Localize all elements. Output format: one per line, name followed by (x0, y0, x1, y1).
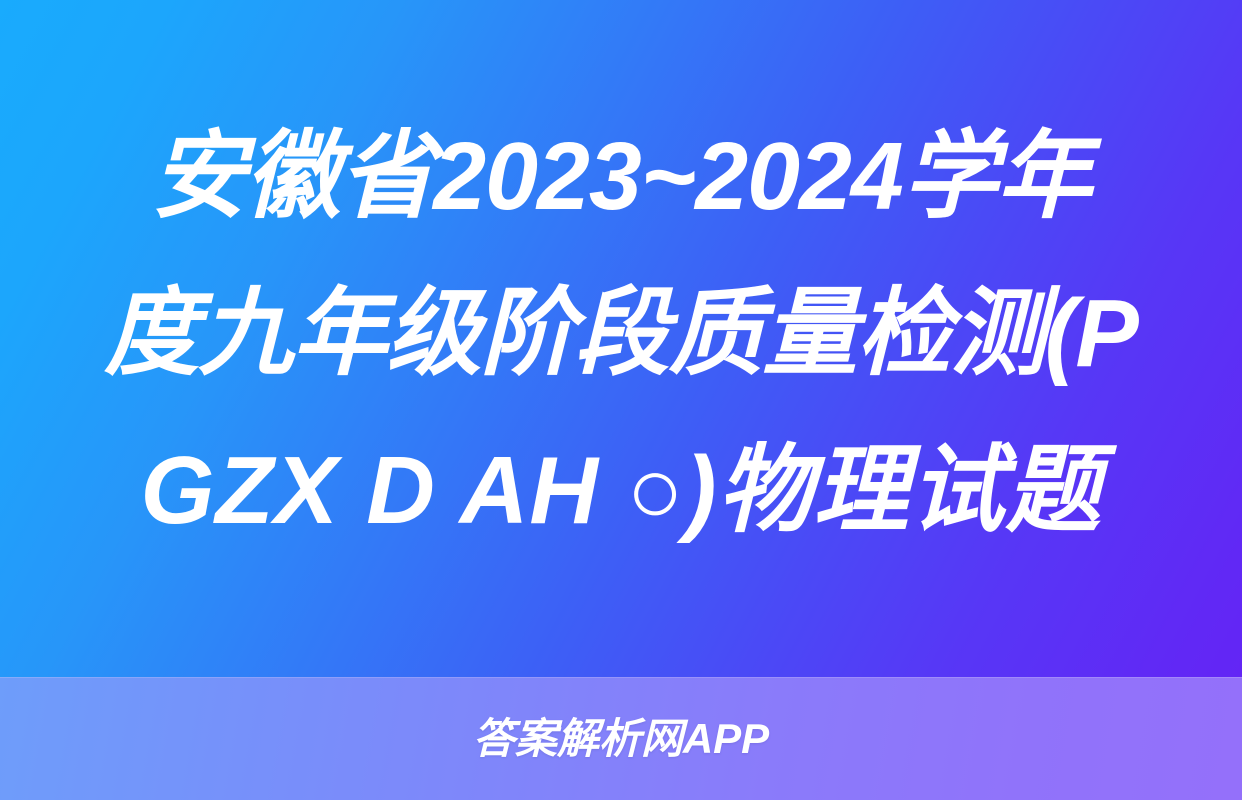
exam-title-line-1: 安徽省2023~2024学年 (46, 98, 1196, 255)
watermark-band: 答案解析网APP (0, 677, 1242, 800)
watermark-label: 答案解析网APP (473, 718, 769, 760)
exam-title-block: 安徽省2023~2024学年 度九年级阶段质量检测(P GZX D AH ○)物… (0, 0, 1242, 677)
exam-title-line-2: 度九年级阶段质量检测(P (46, 255, 1196, 412)
exam-cover-card: 安徽省2023~2024学年 度九年级阶段质量检测(P GZX D AH ○)物… (0, 0, 1242, 800)
exam-title-line-3: GZX D AH ○)物理试题 (46, 412, 1196, 569)
